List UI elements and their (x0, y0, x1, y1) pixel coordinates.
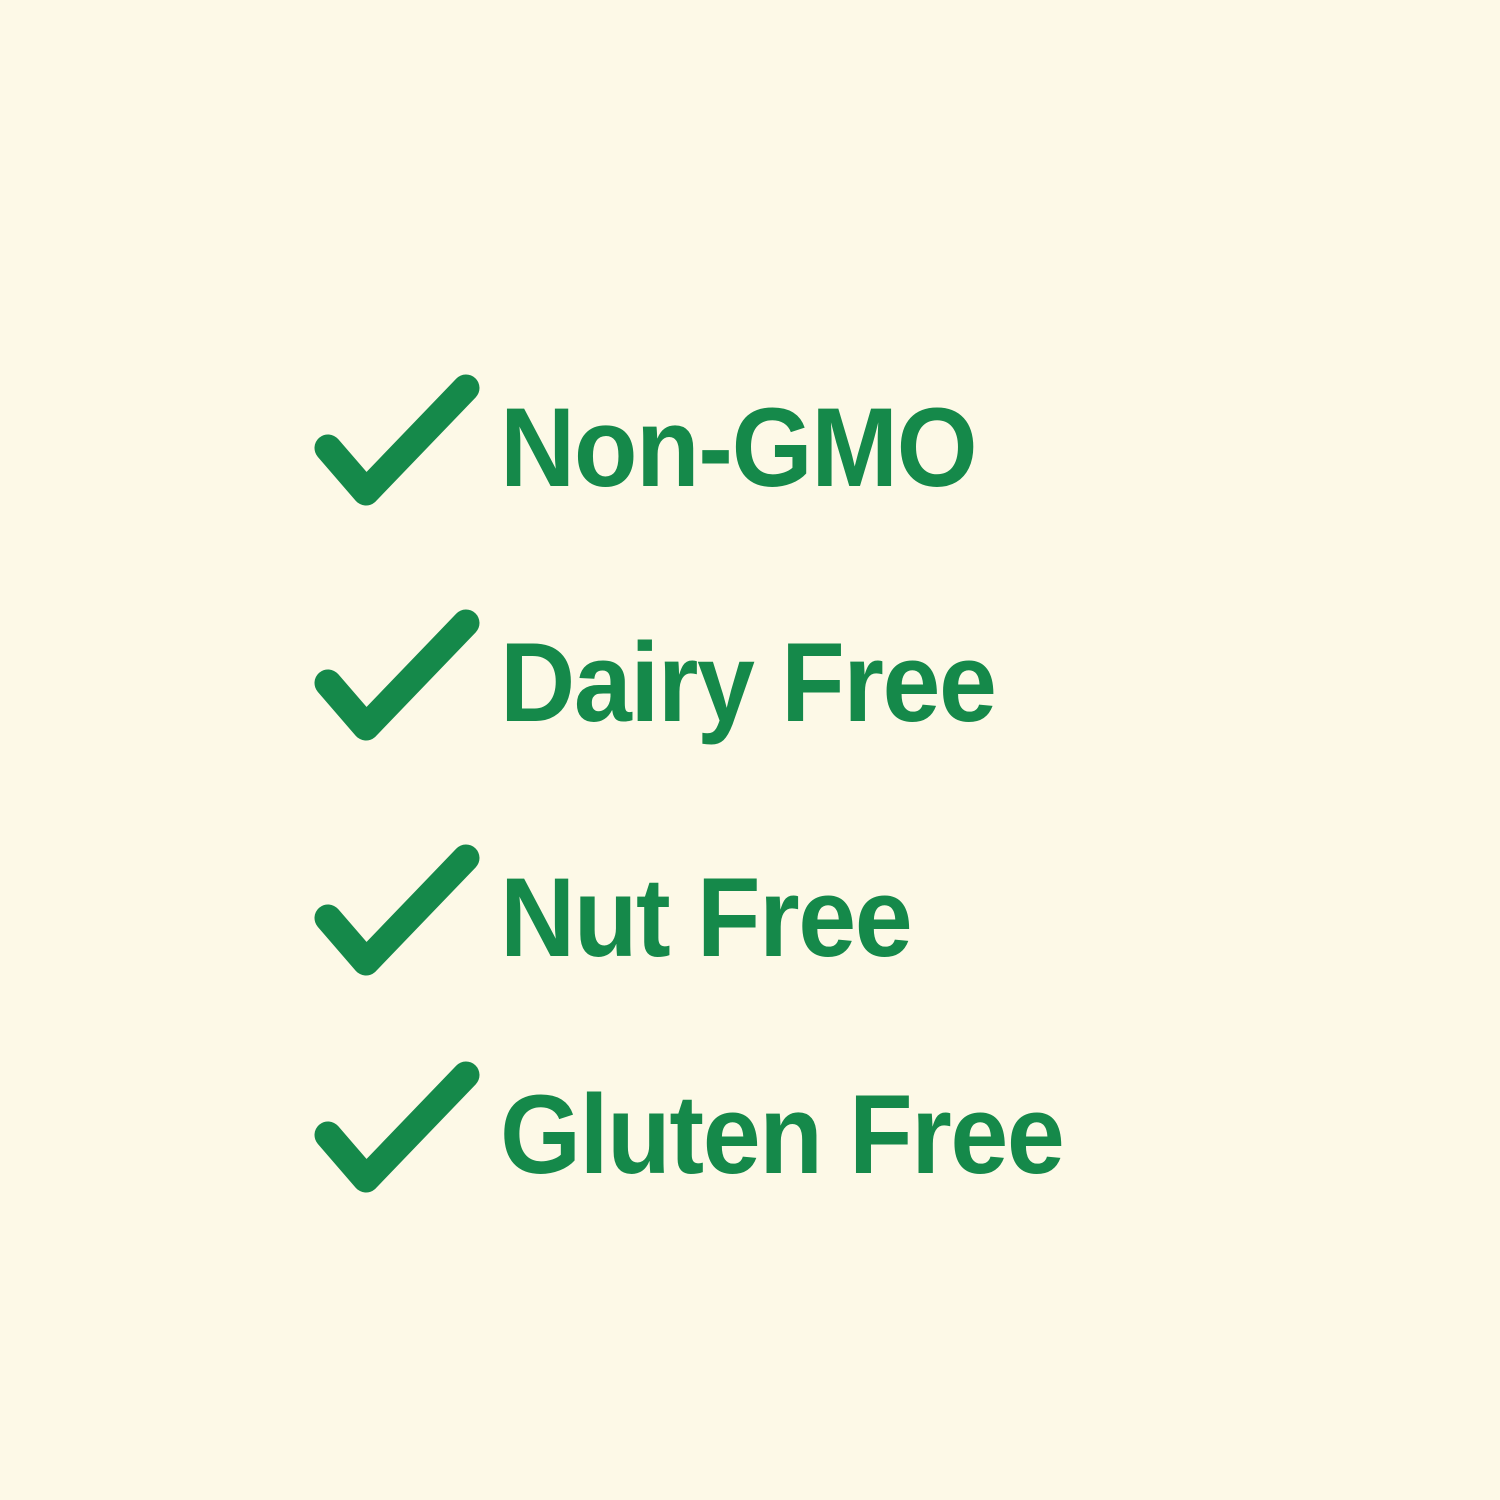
claim-label-gluten-free: Gluten Free (500, 1079, 1063, 1191)
claim-row: Nut Free (318, 798, 1218, 1033)
check-icon (318, 611, 478, 751)
claim-row: Dairy Free (318, 563, 1218, 798)
claim-label-non-gmo: Non-GMO (500, 392, 976, 504)
product-claims-panel: Non-GMO Dairy Free Nut Free (0, 0, 1500, 1500)
claim-row: Gluten Free (318, 1033, 1218, 1233)
claim-row: Non-GMO (318, 328, 1218, 563)
check-icon (318, 846, 478, 986)
claim-label-dairy-free: Dairy Free (500, 627, 996, 739)
claims-list: Non-GMO Dairy Free Nut Free (318, 328, 1218, 1233)
check-icon (318, 376, 478, 516)
claim-label-nut-free: Nut Free (500, 862, 911, 974)
check-icon (318, 1063, 478, 1203)
